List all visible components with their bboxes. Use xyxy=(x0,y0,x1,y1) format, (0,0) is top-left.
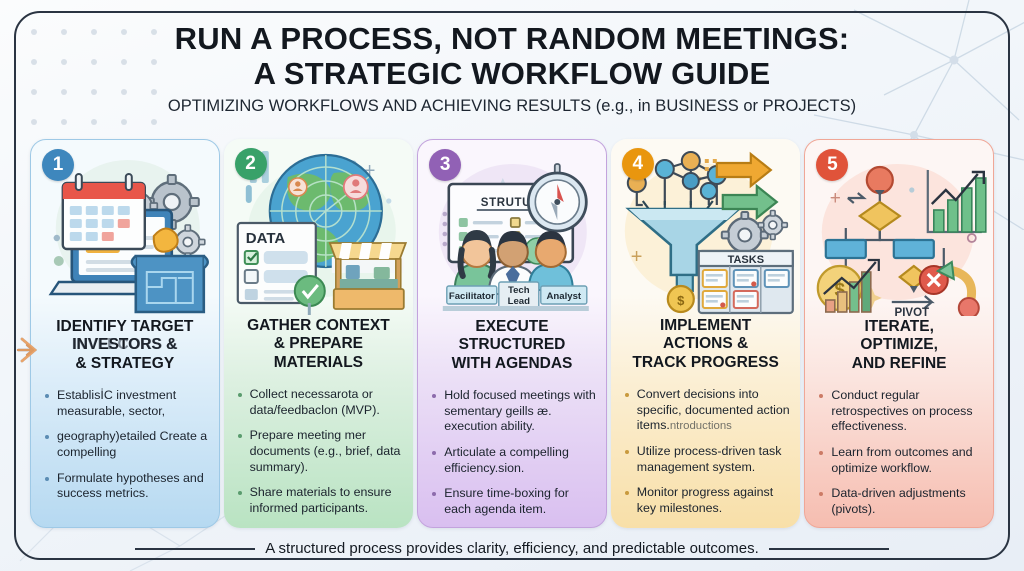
step-heading-3: EXECUTE STRUCTURED WITH AGENDAS xyxy=(424,318,600,373)
list-item: Collect necessarota or data/feedbaclon (… xyxy=(237,387,404,418)
step-heading-line: WITH AGENDAS xyxy=(424,355,600,373)
step-heading-4: IMPLEMENT ACTIONS & TRACK PROGRESS xyxy=(617,317,795,372)
process-step-card-1[interactable]: 1 xyxy=(30,139,220,528)
step-connector-arrow-4 xyxy=(16,335,46,365)
step-heading-line: IMPLEMENT xyxy=(617,317,795,335)
list-item: Utilize process-driven task management s… xyxy=(624,444,791,475)
process-step-card-2[interactable]: 2 + xyxy=(224,139,414,528)
check-badge-icon xyxy=(294,276,324,315)
calendar-icon xyxy=(63,174,145,249)
role-label-tech-lead: Tech xyxy=(508,285,530,296)
process-step-card-3[interactable]: 3 + STRUTURED xyxy=(417,139,607,528)
step-heading-line: EXECUTE xyxy=(424,318,600,336)
step-heading-line: & STRATEGY xyxy=(37,355,213,373)
step-number-badge-1: 1 xyxy=(42,149,74,181)
data-label: DATA xyxy=(245,230,285,247)
step-bullets-3: Hold focused meetings with sementary ɡei… xyxy=(431,388,596,527)
svg-text:$: $ xyxy=(677,293,685,308)
list-item: Monitor progress against key milestones. xyxy=(624,485,791,516)
step-heading-2: GATHER CONTEXT & PREPARE MATERIALS xyxy=(230,317,408,372)
list-item: Learn from outcomes and optimize workflo… xyxy=(818,445,983,476)
page-title-line-1: RUN A PROCESS, NOT RANDOM MEETINGS: xyxy=(0,22,1024,57)
coin-icon: $ xyxy=(668,286,694,312)
list-item: EstablisİC investment measurable, sector… xyxy=(44,388,209,419)
step-number-badge-4: 4 xyxy=(622,148,654,180)
step-heading-line: STRUCTURED xyxy=(424,336,600,354)
process-step-slot-4: 4 + xyxy=(611,139,801,528)
footer-block: A structured process provides clarity, e… xyxy=(0,540,1024,557)
step-number-badge-3: 3 xyxy=(429,149,461,181)
process-step-slot-3: 3 + STRUTURED xyxy=(417,139,607,528)
step-heading-5: ITERATE, OPTIMIZE, AND REFINE xyxy=(811,318,987,373)
kanban-board-icon: TASKS xyxy=(699,251,793,313)
list-item: Convert decisions into specific, documen… xyxy=(624,387,791,434)
process-step-slot-2: 2 + xyxy=(224,139,414,528)
role-label-tech-lead-2: Lead xyxy=(508,296,531,307)
step-heading-ghost-overlay: INVFECORS & xyxy=(37,336,213,354)
header-block: RUN A PROCESS, NOT RANDOM MEETINGS: A ST… xyxy=(0,22,1024,116)
footer-caption: A structured process provides clarity, e… xyxy=(265,540,759,557)
step-heading-line: MATERIALS xyxy=(230,354,408,372)
page-title-line-2: A STRATEGIC WORKFLOW GUIDE xyxy=(0,57,1024,92)
list-item: Hold focused meetings with sementary ɡei… xyxy=(431,388,596,435)
process-step-slot-1: 1 xyxy=(30,139,220,528)
blueprint-icon xyxy=(132,256,208,312)
step-bullets-1: EstablisİC investment measurable, sector… xyxy=(44,388,209,512)
step-heading-line: GATHER CONTEXT xyxy=(230,317,408,335)
list-item: Data-driven adjustments (pivots). xyxy=(818,486,983,517)
list-item: Articulate a compelling efficiency.sion. xyxy=(431,445,596,476)
step-bullets-5: Conduct regular retrospectives on proces… xyxy=(818,388,983,527)
step-heading-line: ITERATE, xyxy=(811,318,987,336)
svg-text:+: + xyxy=(631,246,643,268)
tasks-label: TASKS xyxy=(727,254,763,266)
step-number-badge-2: 2 xyxy=(235,148,267,180)
svg-text:+: + xyxy=(830,188,841,209)
step-heading-line: IDENTIFY TARGET xyxy=(37,318,213,336)
list-item: Share materials to ensure informed parti… xyxy=(237,485,404,516)
footer-rule-left xyxy=(135,548,255,550)
page-subtitle: OPTIMIZING WORKFLOWS AND ACHIEVING RESUL… xyxy=(0,97,1024,116)
process-step-card-4[interactable]: 4 + xyxy=(611,139,801,528)
list-item: Prepare meeting mer documents (e.g., bri… xyxy=(237,428,404,475)
step-heading-1: IDENTIFY TARGET INVESTORS & INVFECORS & … xyxy=(37,318,213,373)
step-heading-line: ACTIONS & xyxy=(617,335,795,353)
process-step-card-5[interactable]: 5 + xyxy=(804,139,994,528)
step-heading-line: AND REFINE xyxy=(811,355,987,373)
role-label-analyst: Analyst xyxy=(547,291,582,302)
list-item: Ensure time-boxing for each agenda item. xyxy=(431,486,596,517)
list-item: Formulate hypotheses and success metrics… xyxy=(44,471,209,502)
process-steps-row: 1 xyxy=(30,139,994,528)
list-item-ghost-overlay: ntroductions xyxy=(670,420,732,432)
person-icon xyxy=(288,178,306,196)
step-bullets-2: Collect necessarota or data/feedbaclon (… xyxy=(237,387,404,526)
step-bullets-4: Convert decisions into specific, documen… xyxy=(624,387,791,526)
list-item: Conduct regular retrospectives on proces… xyxy=(818,388,983,435)
list-item: geography)etailed Create a compelling xyxy=(44,429,209,460)
person-icon xyxy=(343,175,367,199)
step-heading-line: TRACK PROGRESS xyxy=(617,354,795,372)
role-label-facilitator: Facilitator xyxy=(449,291,495,302)
infographic-canvas: RUN A PROCESS, NOT RANDOM MEETINGS: A ST… xyxy=(0,0,1024,571)
process-step-slot-5: 5 + xyxy=(804,139,994,528)
pivot-label: PIVOT xyxy=(895,307,930,316)
footer-rule-right xyxy=(769,548,889,550)
step-heading-line: OPTIMIZE, xyxy=(811,336,987,354)
step-heading-line: & PREPARE xyxy=(230,335,408,353)
